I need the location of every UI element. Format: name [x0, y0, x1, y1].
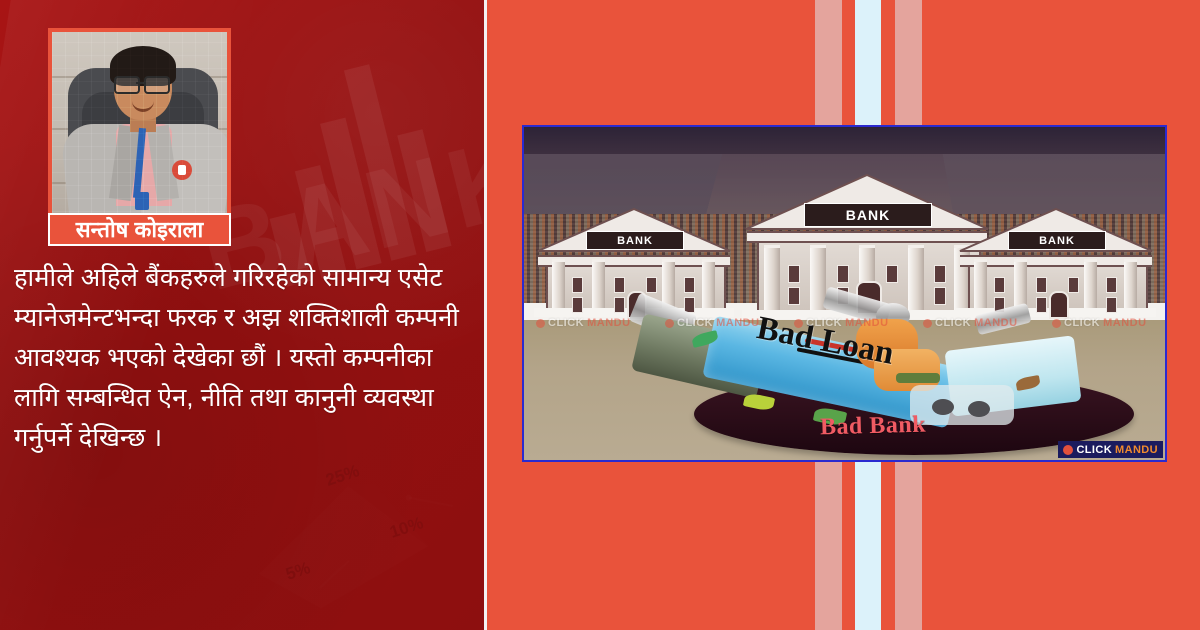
pie-label-25: 25% [323, 461, 361, 490]
panel-divider [484, 0, 487, 630]
clickmandu-dot-icon [1063, 445, 1073, 455]
clickmandu-logo-badge: CLICK MANDU [1058, 441, 1163, 458]
watermark-clickmandu-5: CLICK MANDU [1052, 317, 1147, 329]
bank-sign-right: BANK [1008, 231, 1106, 250]
watermark-text-mandu: MANDU [587, 317, 630, 329]
portrait-photo [52, 32, 227, 238]
watermark-text-mandu: MANDU [1103, 317, 1146, 329]
clickmandu-dot-icon [923, 319, 932, 328]
watermark-clickmandu-3: CLICK MANDU [794, 317, 889, 329]
bank-sign-center: BANK [804, 203, 932, 227]
bar-chart-watermark [231, 3, 484, 287]
portrait-name-text: सन्तोष कोइराला [76, 219, 203, 241]
watermark-text-click: CLICK [677, 317, 713, 329]
clickmandu-dot-icon [536, 319, 545, 328]
watermark-text-click: CLICK [548, 317, 584, 329]
watermark-clickmandu-1: CLICK MANDU [536, 317, 631, 329]
watermark-clickmandu-4: CLICK MANDU [923, 317, 1018, 329]
badge-text-click: CLICK [1076, 444, 1112, 456]
bank-building-right: BANK [956, 207, 1156, 317]
featured-news-image: BANK BANK [522, 125, 1167, 462]
badge-text-mandu: MANDU [1115, 444, 1158, 456]
bank-sign-left: BANK [586, 231, 684, 250]
screenshot-stage: BANK 25% 10% 5% [0, 0, 1200, 630]
watermark-text-mandu: MANDU [716, 317, 759, 329]
quote-text: हामीले अहिले बैंकहरुले गरिरहेको सामान्य … [14, 258, 466, 458]
watermark-text-click: CLICK [1064, 317, 1100, 329]
bank-building-left: BANK [534, 207, 734, 317]
watermark-text-mandu: MANDU [974, 317, 1017, 329]
watermark-text-click: CLICK [806, 317, 842, 329]
watermark-text-click: CLICK [935, 317, 971, 329]
clickmandu-dot-icon [1052, 319, 1061, 328]
clickmandu-dot-icon [794, 319, 803, 328]
portrait-name-plate: सन्तोष कोइराला [48, 213, 231, 246]
pie-label-5: 5% [283, 558, 312, 584]
pie-chart-watermark: 25% 10% 5% [210, 430, 470, 630]
quote-panel: BANK 25% 10% 5% [0, 0, 484, 630]
watermark-clickmandu-2: CLICK MANDU [665, 317, 760, 329]
bad-bank-label: Bad Bank [820, 412, 927, 442]
portrait-card [48, 28, 231, 242]
pie-label-10: 10% [387, 513, 425, 542]
watermark-text-mandu: MANDU [845, 317, 888, 329]
clickmandu-dot-icon [665, 319, 674, 328]
